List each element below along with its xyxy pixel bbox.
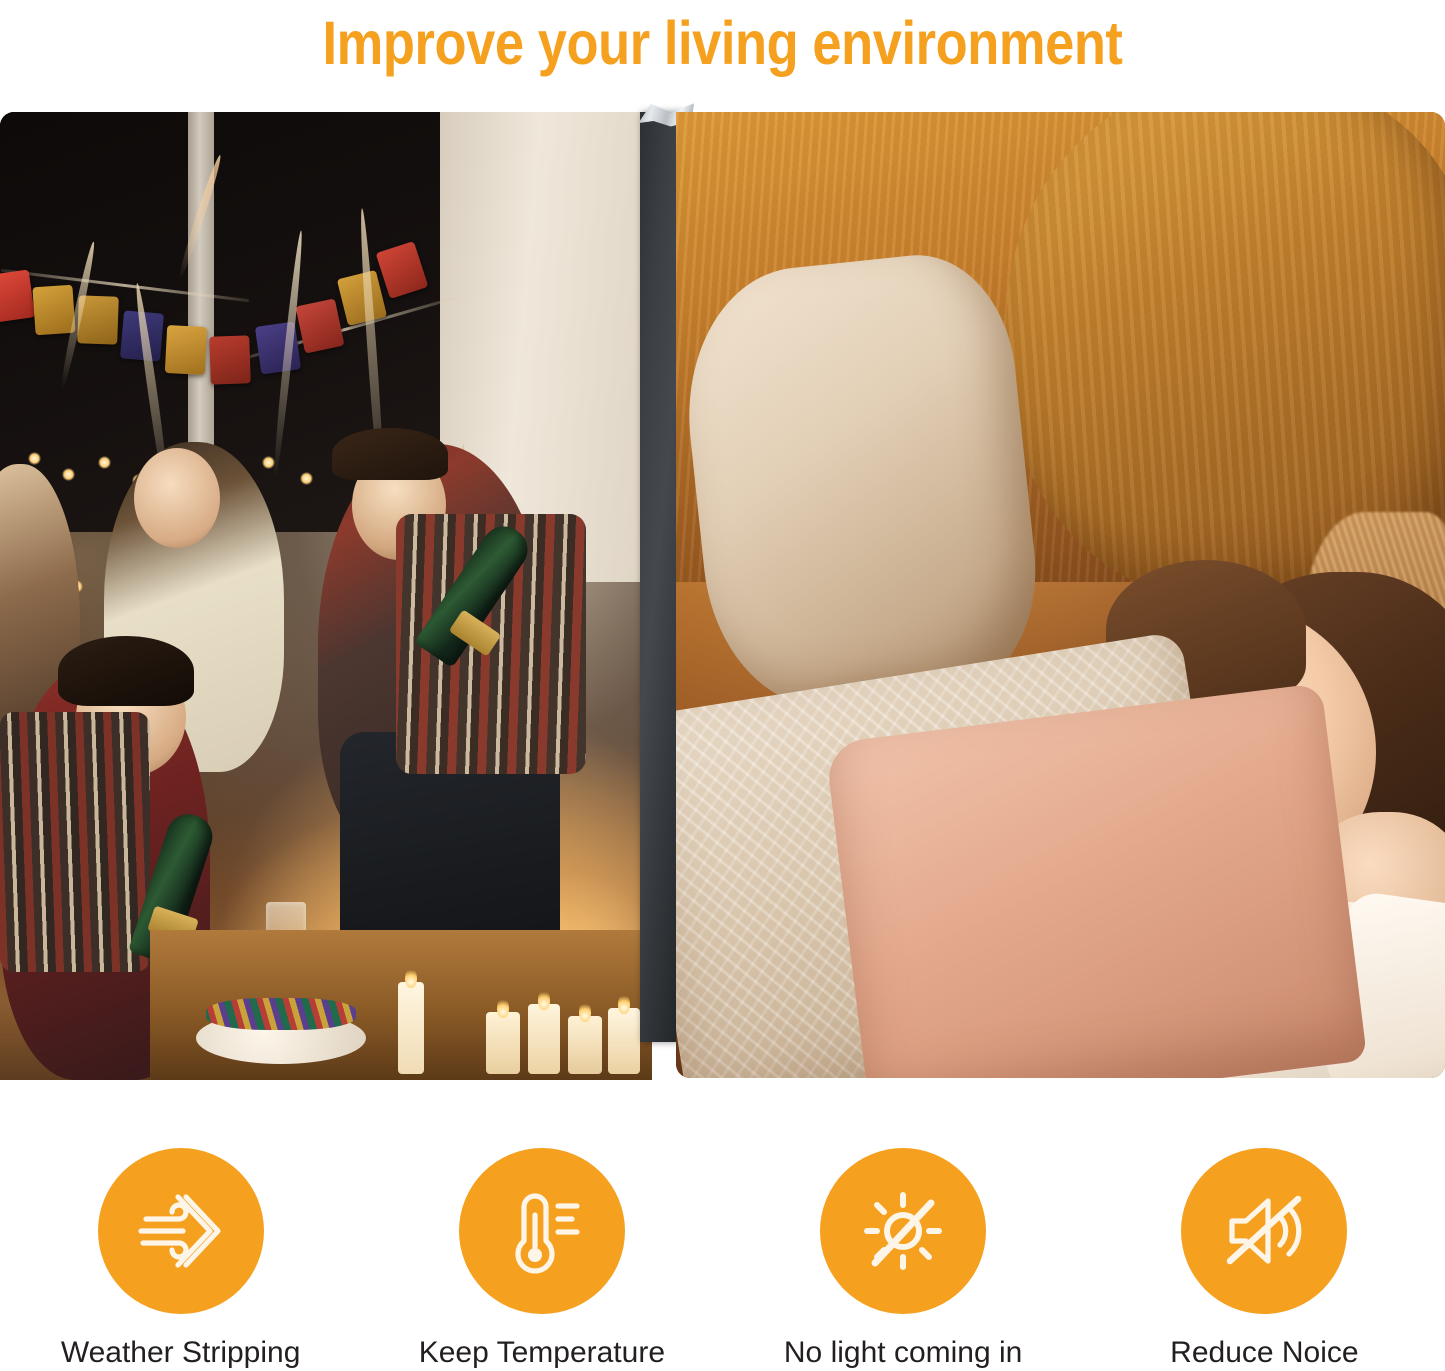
- fairy-light: [262, 456, 275, 469]
- candle: [528, 1004, 560, 1074]
- candle-flame: [579, 1002, 591, 1022]
- feature-icon-circle: [98, 1148, 264, 1314]
- candle-flame: [405, 968, 417, 988]
- new-year-party-photo: [0, 112, 652, 1080]
- person-hair: [58, 636, 194, 706]
- feature-weather-stripping: Weather Stripping: [0, 1148, 361, 1368]
- hero-image-pair: [0, 112, 1445, 1080]
- white-pillow: [676, 246, 1048, 718]
- person-face: [134, 448, 220, 548]
- candy-pile: [206, 998, 356, 1030]
- feature-icon-circle: [820, 1148, 986, 1314]
- fairy-light: [28, 452, 41, 465]
- fairy-light: [62, 468, 75, 481]
- pink-blanket: [825, 683, 1368, 1078]
- candle: [398, 982, 424, 1074]
- sun-slash-icon: [853, 1181, 953, 1281]
- candle-flame: [497, 998, 509, 1018]
- feature-label: Keep Temperature: [419, 1338, 665, 1368]
- person-hair: [332, 428, 448, 480]
- candle: [568, 1016, 602, 1074]
- candle: [608, 1008, 640, 1074]
- thermometer-icon: [492, 1181, 592, 1281]
- plaid-shirt: [0, 712, 150, 972]
- candle-flame: [618, 994, 630, 1014]
- sleeping-child-photo: [676, 112, 1445, 1078]
- wind-arrow-icon: [131, 1181, 231, 1281]
- candle-flame: [538, 990, 550, 1010]
- feature-keep-temperature: Keep Temperature: [361, 1148, 722, 1368]
- candle: [486, 1012, 520, 1074]
- feature-label: Reduce Noice: [1170, 1338, 1358, 1368]
- fairy-light: [98, 456, 111, 469]
- feature-no-light: No light coming in: [723, 1148, 1084, 1368]
- feature-label: No light coming in: [784, 1338, 1022, 1368]
- fairy-light: [300, 472, 313, 485]
- feature-row: Weather Stripping Keep Temperature: [0, 1148, 1445, 1371]
- speaker-mute-icon: [1214, 1181, 1314, 1281]
- feature-reduce-noise: Reduce Noice: [1084, 1148, 1445, 1368]
- feature-icon-circle: [459, 1148, 625, 1314]
- page-title: Improve your living environment: [101, 0, 1344, 86]
- feature-icon-circle: [1181, 1148, 1347, 1314]
- feature-label: Weather Stripping: [61, 1338, 301, 1368]
